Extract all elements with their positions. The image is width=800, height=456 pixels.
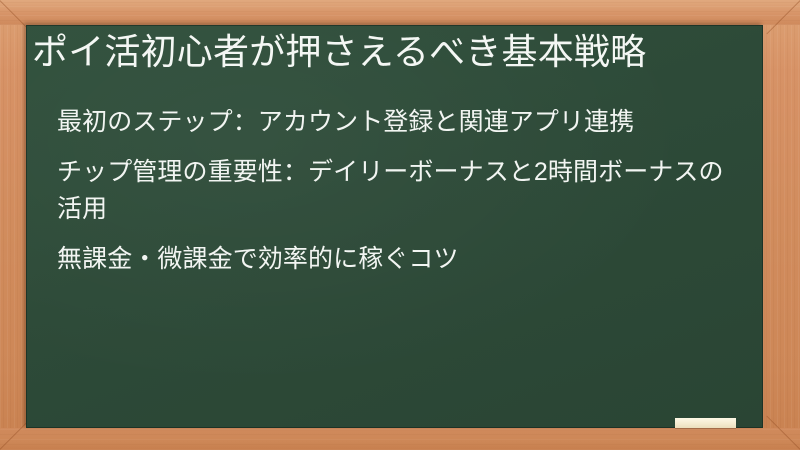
chalkboard-eraser (675, 418, 736, 428)
frame-rail-bottom (0, 428, 800, 450)
slide-title: ポイ活初心者が押さえるべき基本戦略 (32, 30, 750, 74)
list-item: チップ管理の重要性：デイリーボーナスと2時間ボーナスの活用 (57, 154, 745, 228)
chalkboard-slide: ポイ活初心者が押さえるべき基本戦略 最初のステップ：アカウント登録と関連アプリ連… (0, 0, 800, 450)
list-item: 無課金・微課金で効率的に稼ぐコツ (57, 241, 745, 278)
chalkboard-surface: ポイ活初心者が押さえるべき基本戦略 最初のステップ：アカウント登録と関連アプリ連… (26, 25, 763, 428)
list-item: 最初のステップ：アカウント登録と関連アプリ連携 (57, 104, 745, 141)
frame-rail-top (0, 0, 800, 25)
bullet-list: 最初のステップ：アカウント登録と関連アプリ連携 チップ管理の重要性：デイリーボー… (57, 104, 745, 291)
